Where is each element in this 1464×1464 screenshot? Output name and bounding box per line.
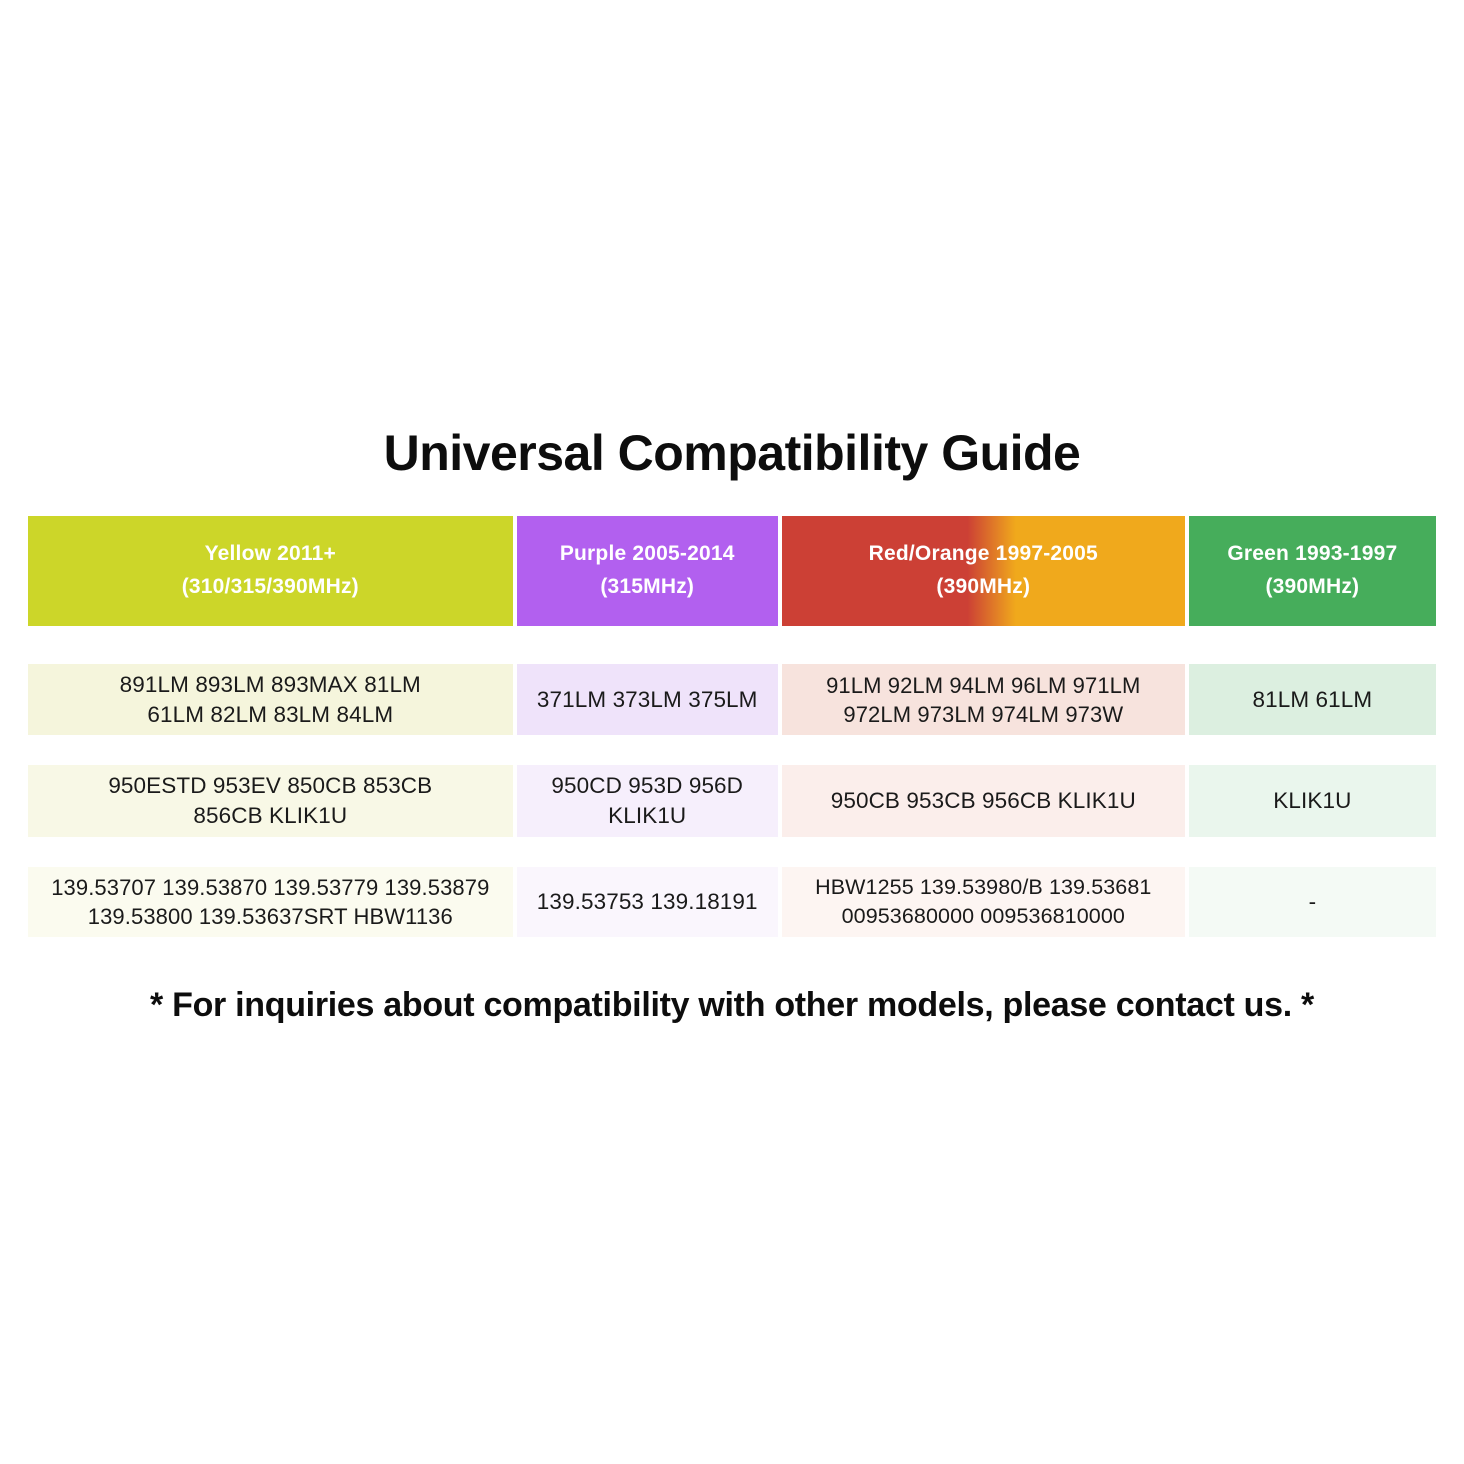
cell-red-row1-line2: 972LM 973LM 974LM 973W [843,700,1123,729]
cell-red-row1-line1: 91LM 92LM 94LM 96LM 971LM [826,671,1140,700]
column-header-yellow-line2: (310/315/390MHz) [182,571,359,604]
table-row: 891LM 893LM 893MAX 81LM 61LM 82LM 83LM 8… [28,664,1436,735]
column-header-purple-line2: (315MHz) [600,571,694,604]
cell-yellow-row2-line2: 856CB KLIK1U [193,801,347,831]
column-header-red-orange-line1: Red/Orange 1997-2005 [869,538,1098,571]
cell-yellow-row1-line2: 61LM 82LM 83LM 84LM [147,700,393,730]
table-header-row: Yellow 2011+ (310/315/390MHz) Purple 200… [28,516,1436,626]
cell-red-row1: 91LM 92LM 94LM 96LM 971LM 972LM 973LM 97… [782,664,1185,735]
table-row: 139.53707 139.53870 139.53779 139.53879 … [28,867,1436,937]
cell-yellow-row3-line1: 139.53707 139.53870 139.53779 139.53879 [51,873,489,902]
cell-red-row3-line2: 00953680000 009536810000 [842,902,1125,930]
column-header-green-line1: Green 1993-1997 [1227,538,1397,571]
compatibility-table: Yellow 2011+ (310/315/390MHz) Purple 200… [28,516,1436,967]
column-header-red-orange: Red/Orange 1997-2005 (390MHz) [782,516,1185,626]
column-header-purple-line1: Purple 2005-2014 [560,538,735,571]
page-title: Universal Compatibility Guide [0,424,1464,482]
cell-green-row2-line1: KLIK1U [1273,786,1351,816]
cell-yellow-row1: 891LM 893LM 893MAX 81LM 61LM 82LM 83LM 8… [28,664,513,735]
cell-red-row2-line1: 950CB 953CB 956CB KLIK1U [831,786,1136,816]
cell-purple-row1-line1: 371LM 373LM 375LM [537,685,758,715]
cell-green-row3-line1: - [1309,887,1317,917]
cell-purple-row2: 950CD 953D 956D KLIK1U [517,765,778,836]
column-header-green-line2: (390MHz) [1265,571,1359,604]
cell-green-row3: - [1189,867,1436,937]
table-row: 950ESTD 953EV 850CB 853CB 856CB KLIK1U 9… [28,765,1436,836]
cell-purple-row2-line1: 950CD 953D 956D [551,771,743,801]
cell-red-row3-line1: HBW1255 139.53980/B 139.53681 [815,873,1151,901]
cell-yellow-row2: 950ESTD 953EV 850CB 853CB 856CB KLIK1U [28,765,513,836]
cell-red-row2: 950CB 953CB 956CB KLIK1U [782,765,1185,836]
cell-green-row1-line1: 81LM 61LM [1253,685,1373,715]
cell-yellow-row2-line1: 950ESTD 953EV 850CB 853CB [108,771,432,801]
cell-red-row3: HBW1255 139.53980/B 139.53681 0095368000… [782,867,1185,937]
column-header-red-orange-line2: (390MHz) [936,571,1030,604]
footer-note: * For inquiries about compatibility with… [0,986,1464,1025]
cell-purple-row3-line1: 139.53753 139.18191 [537,887,758,917]
column-header-green: Green 1993-1997 (390MHz) [1189,516,1436,626]
compatibility-guide-page: Universal Compatibility Guide Yellow 201… [0,0,1464,1464]
cell-purple-row2-line2: KLIK1U [608,801,686,831]
column-header-yellow-line1: Yellow 2011+ [205,538,336,571]
cell-green-row1: 81LM 61LM [1189,664,1436,735]
cell-yellow-row3: 139.53707 139.53870 139.53779 139.53879 … [28,867,513,937]
cell-purple-row3: 139.53753 139.18191 [517,867,778,937]
cell-purple-row1: 371LM 373LM 375LM [517,664,778,735]
cell-yellow-row1-line1: 891LM 893LM 893MAX 81LM [120,670,421,700]
cell-yellow-row3-line2: 139.53800 139.53637SRT HBW1136 [88,902,453,931]
cell-green-row2: KLIK1U [1189,765,1436,836]
column-header-yellow: Yellow 2011+ (310/315/390MHz) [28,516,513,626]
column-header-purple: Purple 2005-2014 (315MHz) [517,516,778,626]
